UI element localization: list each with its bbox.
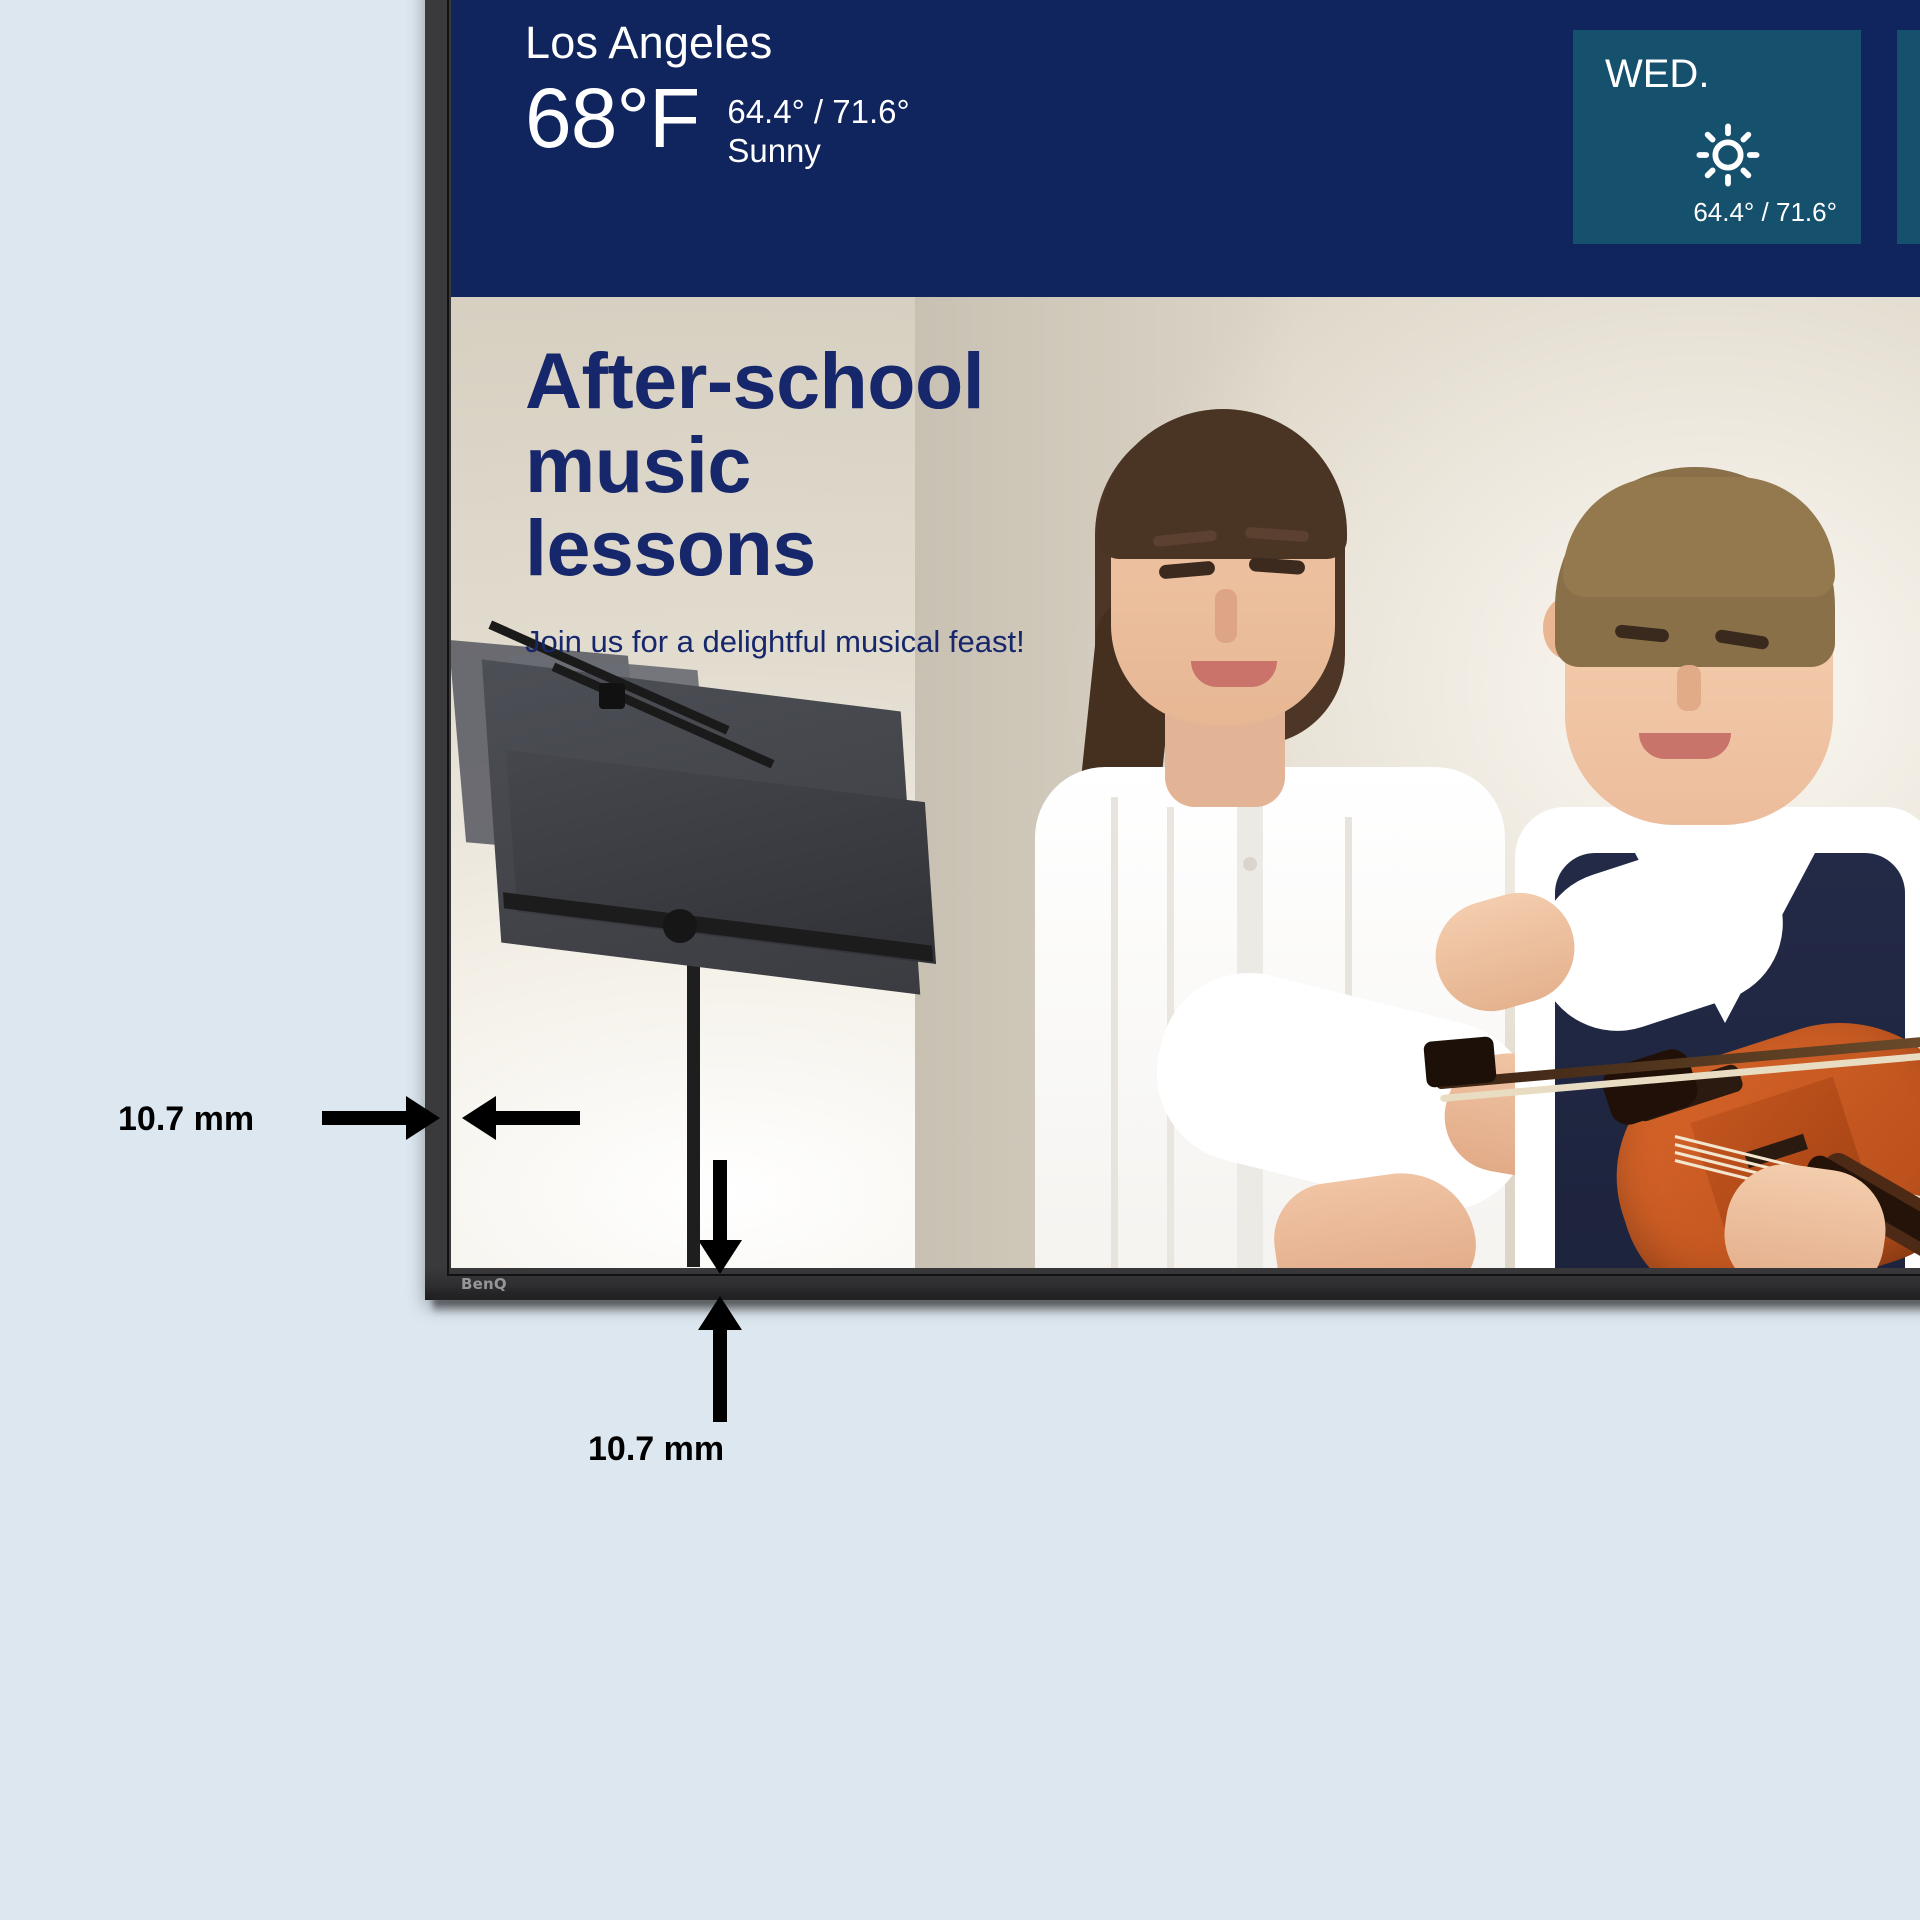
left-measure-arrow-head [406,1096,440,1140]
current-weather: Los Angeles 68°F 64.4° / 71.6° Sunny [525,20,910,171]
woman-nose [1215,589,1237,643]
bottom-measure-lower-arrow-shaft [713,1330,727,1422]
forecast-day-label: WED. [1605,52,1709,97]
forecast-card-thu[interactable]: THU. 64 [1897,30,1920,244]
forecast-temperature-range: 64.4° / 71.6° [1693,197,1837,228]
lesson-photo [915,297,1920,1270]
benq-logo: BenQ [461,1275,507,1293]
left-measure-arrow-shaft [322,1111,416,1125]
display-drop-shadow [433,1298,1920,1314]
weather-widget: Los Angeles 68°F 64.4° / 71.6° Sunny WED… [451,0,1920,297]
woman-mouth [1191,661,1277,687]
forecast-card-wed[interactable]: WED. 64 [1573,30,1861,244]
bottom-bezel: BenQ [425,1268,1920,1300]
forecast-list: WED. 64 [1573,30,1920,244]
current-temperature: 68°F [525,83,699,154]
display-screen: Los Angeles 68°F 64.4° / 71.6° Sunny WED… [451,0,1920,1270]
music-stand [451,627,1011,1267]
boy-hair-fringe [1563,477,1835,597]
poster-text-block: After-school music lessons Join us for a… [525,339,1025,660]
sun-icon [1695,122,1761,188]
digital-signage-display: Los Angeles 68°F 64.4° / 71.6° Sunny WED… [425,0,1920,1300]
poster-subheadline: Join us for a delightful musical feast! [525,624,1025,660]
blouse-button [1243,857,1257,871]
blouse-fold [1111,797,1118,1270]
music-stand-clip [599,683,625,709]
boy-nose [1677,665,1701,711]
boy-mouth [1639,733,1731,759]
bottom-bezel-measure-label: 10.7 mm [588,1430,724,1469]
weather-city-label: Los Angeles [525,20,910,65]
left-bezel-measure-label: 10.7 mm [118,1100,254,1139]
current-temperature-range: 64.4° / 71.6° [727,93,909,132]
violin-bow-frog [1423,1036,1497,1088]
bottom-measure-lower-arrow-head [698,1296,742,1330]
music-stand-knob [663,909,697,943]
current-condition-label: Sunny [727,132,909,171]
poster-headline: After-school music lessons [525,339,1025,590]
signage-content: After-school music lessons Join us for a… [451,297,1920,1270]
music-stand-pole [687,927,700,1267]
